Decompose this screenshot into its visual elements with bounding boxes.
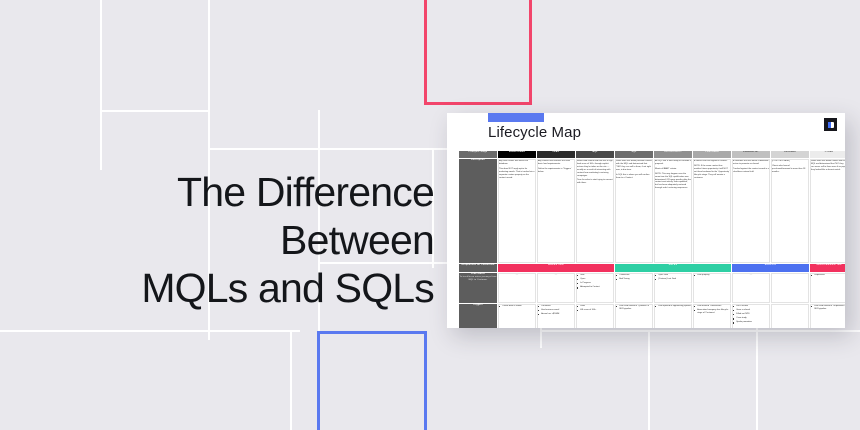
cell-leadstatus-mql: NewOpenIn ProgressAttempted to Contact — [576, 273, 614, 303]
col-header-other: OTHER — [810, 151, 845, 158]
cell-description-opportunity: An SQL that is now ready to consider a p… — [654, 159, 692, 263]
cell-triggers-other: Deal card moved to 'Unqualified' in SDR … — [810, 304, 845, 328]
cell-description-sql: Sales team has made personal contact wit… — [615, 159, 653, 263]
col-header-mql: MQL — [576, 151, 614, 158]
cell-triggers-mql: LeadHS score of 100+ — [576, 304, 614, 328]
cell-leadstatus-sql: ConnectedBad Timing — [615, 273, 653, 303]
row-label-description: Description — [459, 159, 497, 263]
card-title: Lifecycle Map — [488, 124, 581, 141]
col-header-lead: LEAD — [537, 151, 575, 158]
card-accent-bar — [488, 113, 544, 122]
col-header-churned: CHURNED — [771, 151, 809, 158]
row-label-lead-status-sub: To track/trace micro journeys from MQL t… — [459, 276, 497, 281]
row-label-lead-status-text: Lead Status — [471, 273, 485, 275]
table-header-row: Lifecycle Stage SUBSCRIBER LEAD MQL SQL … — [459, 151, 845, 158]
cell-description-lead: Any contact that matches our most basic … — [537, 159, 575, 263]
cell-description-other: Sales team has made contact with the MQL… — [810, 159, 845, 263]
table-row-responsible: Responsible for Conversion MARKETING SAL… — [459, 264, 845, 272]
hubspot-logo-icon — [824, 118, 837, 131]
decorative-square-blue — [317, 331, 427, 430]
col-header-opportunity: OPPORTUNITY — [654, 151, 692, 158]
table-body: Description Any new contact that enters … — [459, 159, 845, 328]
cell-description-churned: [CUSTOM STAGE]Clients who haven't purcha… — [771, 159, 809, 263]
col-header-subscriber: SUBSCRIBER — [498, 151, 536, 158]
grid-line-vertical — [290, 330, 292, 430]
col-header-customer: CUSTOMER — [693, 151, 731, 158]
grid-line-horizontal — [0, 330, 300, 332]
bar-service: SERVICE — [732, 264, 809, 272]
cell-triggers-customer: Deal marked 'Closed/Won'Associated compa… — [693, 304, 731, 328]
cell-leadstatus-other: Unqualified — [810, 273, 845, 303]
cell-leadstatus-lead: — — [537, 273, 575, 303]
grid-line-vertical — [648, 330, 650, 430]
table-row-description: Description Any new contact that enters … — [459, 159, 845, 263]
cell-triggers-sql: Deal card moved to 'Qualified' in SDR pi… — [615, 304, 653, 328]
grid-line-horizontal — [100, 110, 210, 112]
cell-triggers-evangelist: Left a reviewGave a referralFilled out N… — [732, 304, 770, 328]
page-title: The Difference Between MQLs and SQLs — [0, 168, 434, 312]
col-header-lifecycle-stage: Lifecycle Stage — [459, 151, 497, 158]
lifecycle-table: Lifecycle Stage SUBSCRIBER LEAD MQL SQL … — [458, 150, 845, 328]
row-label-lead-status: Lead Status To track/trace micro journey… — [459, 273, 497, 303]
slide-canvas: The Difference Between MQLs and SQLs Lif… — [0, 0, 860, 430]
col-header-evangelist: EVANGELIST — [732, 151, 770, 158]
cell-description-subscriber: Any new contact that enters the database… — [498, 159, 536, 263]
bar-marketing: MARKETING — [498, 264, 614, 272]
cell-triggers-churned — [771, 304, 809, 328]
cell-description-mql: Meets lead criteria and now has a high l… — [576, 159, 614, 263]
cell-triggers-subscriber: Create date is known — [498, 304, 536, 328]
table-row-lead-status: Lead Status To track/trace micro journey… — [459, 273, 845, 303]
grid-line-vertical — [208, 0, 210, 170]
row-label-responsible: Responsible for Conversion — [459, 264, 497, 272]
decorative-square-pink — [424, 0, 532, 105]
lifecycle-map-card: Lifecycle Map Lifecycle Stage SUBSCRIBER… — [447, 113, 845, 328]
cell-description-customer: A contact that has signed a contract.NOT… — [693, 159, 731, 263]
grid-line-horizontal — [540, 330, 860, 332]
cell-triggers-opportunity: Deal opened in opportunity pipeline — [654, 304, 692, 328]
row-label-triggers: Triggers — [459, 304, 497, 328]
col-header-sql: SQL — [615, 151, 653, 158]
cell-triggers-lead: US-basedHas business emailAnnual rev >$5… — [537, 304, 575, 328]
bar-sales-marketing: SALES/MARKETING — [810, 264, 845, 272]
cell-leadstatus-churned — [771, 273, 809, 303]
cell-leadstatus-customer: Deal properly — [693, 273, 731, 303]
grid-line-vertical — [100, 0, 102, 170]
table-row-triggers: Triggers Create date is known US-basedHa… — [459, 304, 845, 328]
bar-sales: SALES — [615, 264, 731, 272]
cell-leadstatus-evangelist: — — [732, 273, 770, 303]
cell-leadstatus-opportunity: Open Deal(Custom) Lost Deal — [654, 273, 692, 303]
cell-description-evangelist: A customer that has taken a deliberate a… — [732, 159, 770, 263]
cell-leadstatus-subscriber: — — [498, 273, 536, 303]
